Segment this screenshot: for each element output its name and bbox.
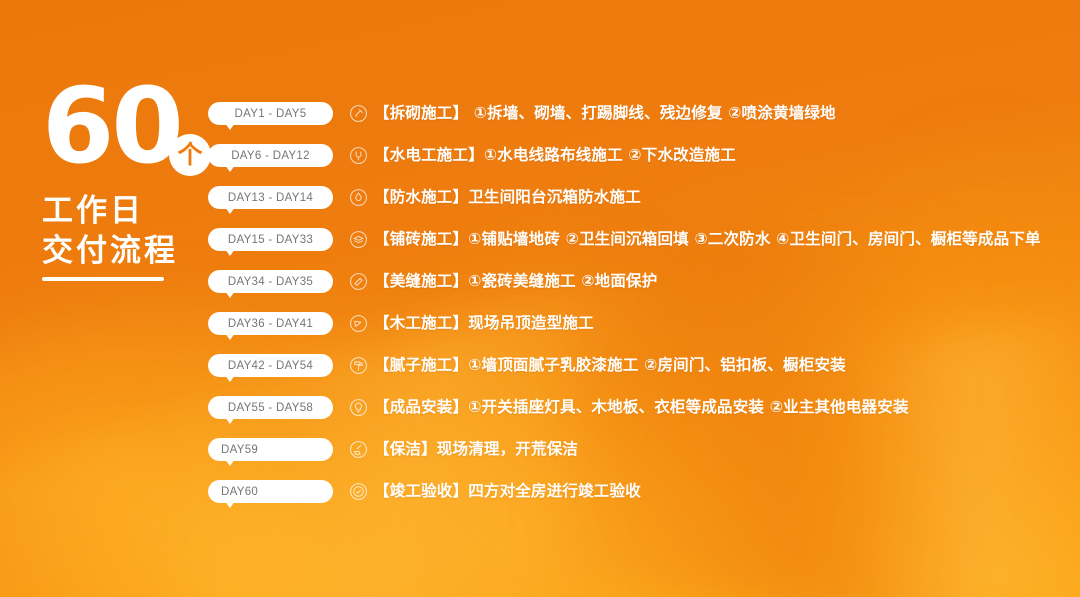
- task-description: 【成品安装】①开关插座灯具、木地板、衣柜等成品安装 ②业主其他电器安装: [374, 398, 909, 417]
- day-range-pill-wrap: DAY55 - DAY58: [208, 396, 333, 419]
- day-range-pill[interactable]: DAY42 - DAY54: [208, 354, 333, 377]
- pill-tail: [225, 375, 235, 382]
- hammer-demolition-icon: [349, 104, 368, 123]
- tile-stack-icon: [349, 230, 368, 249]
- headline-number: 60: [42, 65, 181, 187]
- timeline-row[interactable]: DAY42 - DAY54 【腻子施工】①墙顶面腻子乳胶漆施工 ②房间门、铝扣板…: [208, 352, 1041, 379]
- pill-tail: [225, 123, 235, 130]
- timeline-row[interactable]: DAY36 - DAY41 【木工施工】现场吊顶造型施工: [208, 310, 1041, 337]
- pill-tail: [225, 417, 235, 424]
- day-range-pill[interactable]: DAY55 - DAY58: [208, 396, 333, 419]
- day-range-pill-wrap: DAY1 - DAY5: [208, 102, 333, 125]
- headline-subtitle-line-1: 工作日: [42, 192, 217, 230]
- timeline-row[interactable]: DAY1 - DAY5 【拆砌施工】 ①拆墙、砌墙、打踢脚线、残边修复 ②喷涂黄…: [208, 100, 1041, 127]
- day-range-pill[interactable]: DAY15 - DAY33: [208, 228, 333, 251]
- saw-carpentry-icon: [349, 314, 368, 333]
- pill-tail: [225, 207, 235, 214]
- timeline-row[interactable]: DAY60 【竣工验收】四方对全房进行竣工验收: [208, 478, 1041, 505]
- task-description: 【拆砌施工】 ①拆墙、砌墙、打踢脚线、残边修复 ②喷涂黄墙绿地: [374, 104, 836, 123]
- task-description: 【水电工施工】①水电线路布线施工 ②下水改造施工: [374, 146, 736, 165]
- headline-subtitle-line-2: 交付流程: [42, 232, 217, 270]
- day-range-pill[interactable]: DAY59: [208, 438, 333, 461]
- task-description: 【防水施工】卫生间阳台沉箱防水施工: [374, 188, 641, 207]
- task-description: 【保洁】现场清理，开荒保洁: [374, 440, 578, 459]
- paint-roller-icon: [349, 356, 368, 375]
- pill-tail: [225, 291, 235, 298]
- day-range-pill-wrap: DAY60: [208, 480, 333, 503]
- day-range-pill-wrap: DAY42 - DAY54: [208, 354, 333, 377]
- timeline-row[interactable]: DAY55 - DAY58 【成品安装】①开关插座灯具、木地板、衣柜等成品安装 …: [208, 394, 1041, 421]
- headline-block: 60 个 工作日 交付流程: [42, 78, 217, 281]
- day-range-pill-wrap: DAY15 - DAY33: [208, 228, 333, 251]
- day-range-pill-wrap: DAY34 - DAY35: [208, 270, 333, 293]
- broom-cleaning-icon: [349, 440, 368, 459]
- pill-tail: [225, 165, 235, 172]
- task-description: 【竣工验收】四方对全房进行竣工验收: [374, 482, 641, 501]
- headline-underline: [42, 277, 164, 281]
- day-range-pill[interactable]: DAY34 - DAY35: [208, 270, 333, 293]
- day-range-pill-wrap: DAY59: [208, 438, 333, 461]
- day-range-pill[interactable]: DAY1 - DAY5: [208, 102, 333, 125]
- day-range-pill-wrap: DAY6 - DAY12: [208, 144, 333, 167]
- timeline-row[interactable]: DAY13 - DAY14 【防水施工】卫生间阳台沉箱防水施工: [208, 184, 1041, 211]
- timeline-row[interactable]: DAY6 - DAY12 【水电工施工】①水电线路布线施工 ②下水改造施工: [208, 142, 1041, 169]
- timeline-list: DAY1 - DAY5 【拆砌施工】 ①拆墙、砌墙、打踢脚线、残边修复 ②喷涂黄…: [208, 100, 1041, 520]
- day-range-pill[interactable]: DAY36 - DAY41: [208, 312, 333, 335]
- pill-tail: [225, 333, 235, 340]
- timeline-row[interactable]: DAY34 - DAY35 【美缝施工】①瓷砖美缝施工 ②地面保护: [208, 268, 1041, 295]
- checkmark-seal-icon: [349, 482, 368, 501]
- day-range-pill-wrap: DAY13 - DAY14: [208, 186, 333, 209]
- task-description: 【美缝施工】①瓷砖美缝施工 ②地面保护: [374, 272, 657, 291]
- timeline-row[interactable]: DAY59 【保洁】现场清理，开荒保洁: [208, 436, 1041, 463]
- day-range-pill[interactable]: DAY60: [208, 480, 333, 503]
- day-range-pill[interactable]: DAY6 - DAY12: [208, 144, 333, 167]
- lamp-install-icon: [349, 398, 368, 417]
- timeline-row[interactable]: DAY15 - DAY33 【铺砖施工】①铺贴墙地砖 ②卫生间沉箱回填 ③二次防…: [208, 226, 1041, 253]
- task-description: 【铺砖施工】①铺贴墙地砖 ②卫生间沉箱回填 ③二次防水 ④卫生间门、房间门、橱柜…: [374, 230, 1041, 249]
- headline-number-row: 60 个: [42, 78, 217, 174]
- unit-badge: 个: [169, 134, 211, 176]
- pill-tail: [225, 249, 235, 256]
- pill-tail: [225, 501, 235, 508]
- plug-electric-icon: [349, 146, 368, 165]
- day-range-pill-wrap: DAY36 - DAY41: [208, 312, 333, 335]
- day-range-pill[interactable]: DAY13 - DAY14: [208, 186, 333, 209]
- task-description: 【木工施工】现场吊顶造型施工: [374, 314, 594, 333]
- poster-canvas: 60 个 工作日 交付流程 DAY1 - DAY5 【拆砌施工】 ①拆墙、砌墙、…: [0, 0, 1080, 597]
- task-description: 【腻子施工】①墙顶面腻子乳胶漆施工 ②房间门、铝扣板、橱柜安装: [374, 356, 846, 375]
- grout-trowel-icon: [349, 272, 368, 291]
- pill-tail: [225, 459, 235, 466]
- water-drop-icon: [349, 188, 368, 207]
